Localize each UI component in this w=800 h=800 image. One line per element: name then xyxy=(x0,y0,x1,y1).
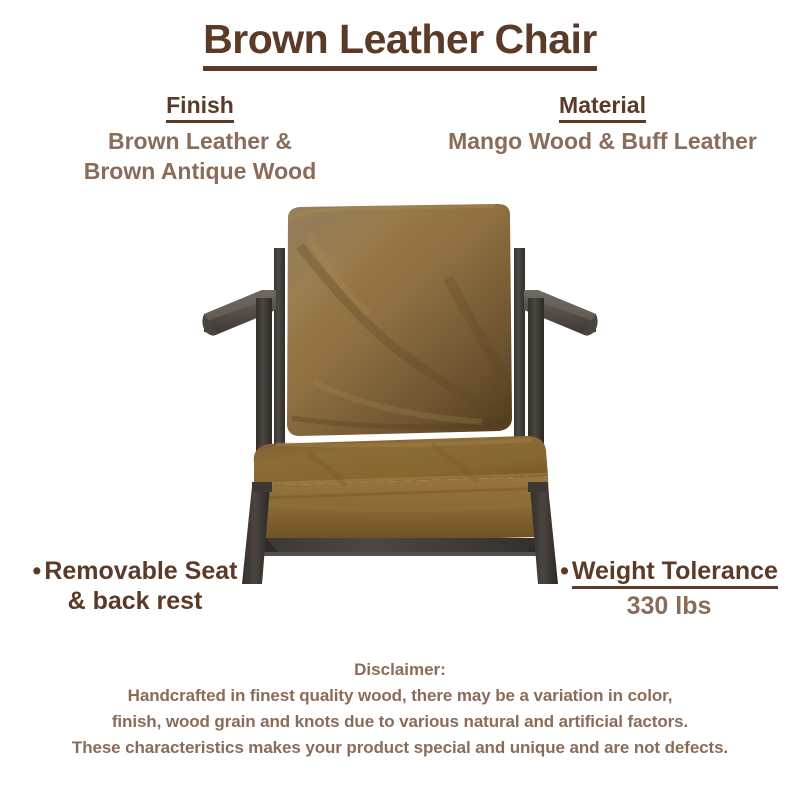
page-title-container: Brown Leather Chair xyxy=(0,18,800,71)
spec-heading-wrap: Material xyxy=(415,92,790,123)
disclaimer-line-2: finish, wood grain and knots due to vari… xyxy=(0,709,800,735)
spec-block-material: Material Mango Wood & Buff Leather xyxy=(415,92,790,157)
disclaimer-block: Disclaimer: Handcrafted in finest qualit… xyxy=(0,658,800,762)
product-image-chair xyxy=(196,186,604,586)
feature-left-line1: •Removable Seat xyxy=(5,556,265,586)
feature-left-sub: & back rest xyxy=(5,586,265,616)
chair-front-rail xyxy=(252,538,552,556)
page-title: Brown Leather Chair xyxy=(203,18,597,71)
feature-right-line1: •Weight Tolerance xyxy=(540,556,798,586)
disclaimer-title: Disclaimer: xyxy=(0,658,800,683)
feature-weight-tolerance: •Weight Tolerance 330 lbs xyxy=(540,556,798,621)
feature-right-sub: 330 lbs xyxy=(540,591,798,621)
feature-removable-seat: •Removable Seat & back rest xyxy=(5,556,265,616)
product-spec-sheet: Brown Leather Chair Finish Brown Leather… xyxy=(0,0,800,800)
spec-value-finish: Brown Leather & Brown Antique Wood xyxy=(20,127,380,186)
spec-value-material: Mango Wood & Buff Leather xyxy=(415,127,790,156)
spec-heading-material: Material xyxy=(559,92,646,123)
feature-right-label: Weight Tolerance xyxy=(572,557,778,589)
bullet-icon: • xyxy=(560,557,569,585)
spec-heading-finish: Finish xyxy=(166,92,234,123)
chair-back-cushion xyxy=(287,204,512,436)
feature-left-label: Removable Seat xyxy=(44,557,237,585)
spec-block-finish: Finish Brown Leather & Brown Antique Woo… xyxy=(20,92,380,186)
bullet-icon: • xyxy=(33,557,42,585)
spec-heading-wrap: Finish xyxy=(20,92,380,123)
chair-seat-cushion xyxy=(253,436,550,544)
disclaimer-line-3: These characteristics makes your product… xyxy=(0,735,800,761)
disclaimer-line-1: Handcrafted in finest quality wood, ther… xyxy=(0,683,800,709)
